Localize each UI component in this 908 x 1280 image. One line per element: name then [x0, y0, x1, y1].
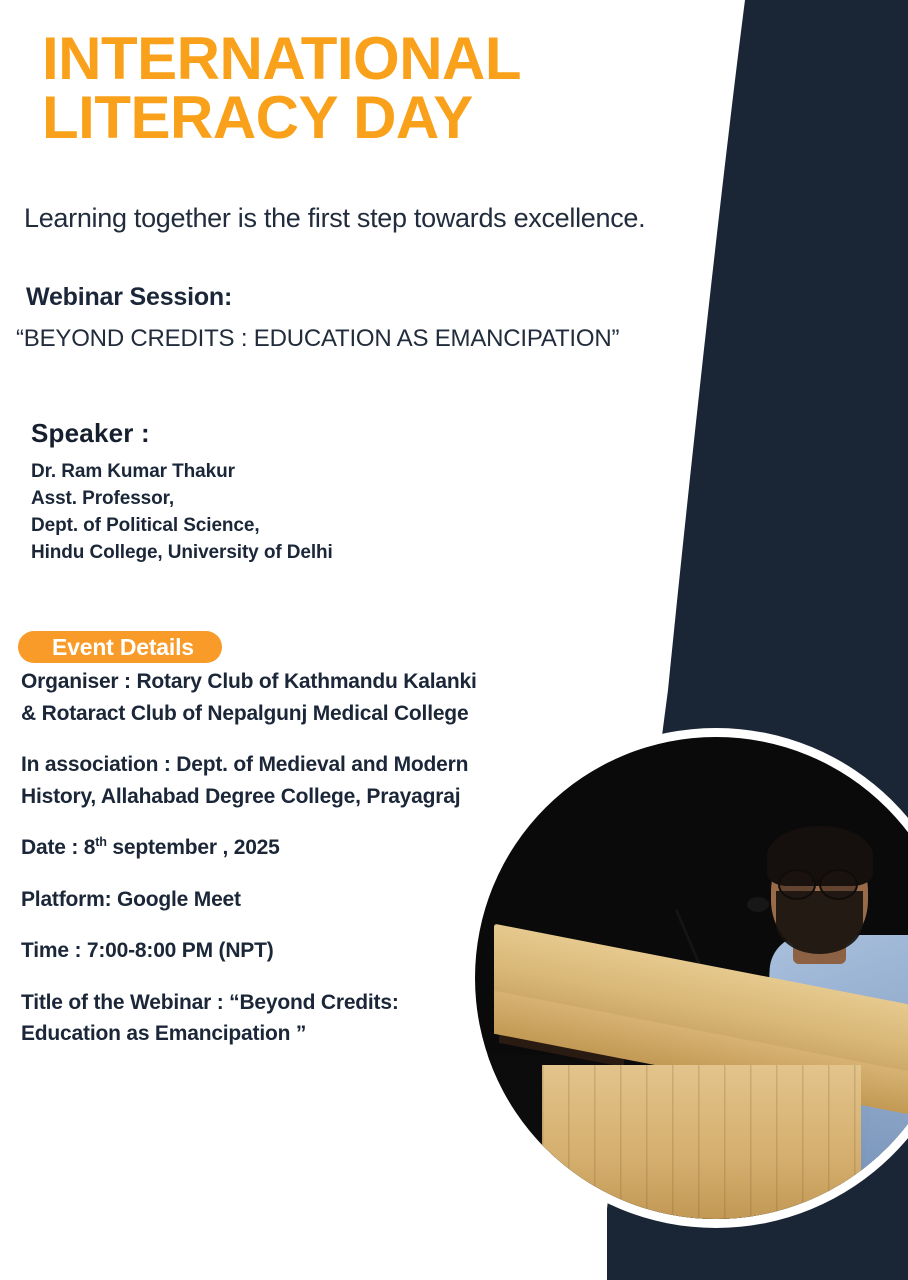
tagline: Learning together is the first step towa… [24, 203, 645, 234]
speaker-details: Dr. Ram Kumar Thakur Asst. Professor, De… [31, 459, 333, 567]
detail-association: In association : Dept. of Medieval and M… [21, 749, 481, 812]
headline-line-2: LITERACY DAY [42, 89, 682, 148]
photo-speaker-beard [776, 891, 863, 954]
detail-organiser: Organiser : Rotary Club of Kathmandu Kal… [21, 666, 481, 729]
speaker-block: Speaker : Dr. Ram Kumar Thakur Asst. Pro… [31, 418, 333, 567]
detail-platform: Platform: Google Meet [21, 884, 481, 916]
speaker-label: Speaker : [31, 418, 333, 449]
speaker-photo [466, 728, 908, 1228]
page-title: INTERNATIONAL LITERACY DAY [42, 30, 682, 148]
detail-date: Date : 8th september , 2025 [21, 832, 481, 864]
detail-time: Time : 7:00-8:00 PM (NPT) [21, 935, 481, 967]
detail-date-label: Date : 8 [21, 836, 95, 859]
detail-webinar-title-line-2: Education as Emancipation ” [21, 1022, 306, 1045]
speaker-name: Dr. Ram Kumar Thakur [31, 459, 333, 486]
photo-microphone-head [747, 897, 769, 912]
speaker-photo-ring [466, 728, 908, 1228]
speaker-designation: Asst. Professor, [31, 486, 333, 513]
detail-date-rest: september , 2025 [107, 836, 280, 859]
photo-eyeglass-bridge [812, 880, 820, 882]
poster-canvas: INTERNATIONAL LITERACY DAY Learning toge… [0, 0, 908, 1280]
event-details-list: Organiser : Rotary Club of Kathmandu Kal… [21, 666, 481, 1070]
speaker-photo-image [475, 737, 908, 1219]
webinar-session-title: “BEYOND CREDITS : EDUCATION AS EMANCIPAT… [16, 325, 619, 353]
headline-line-1: INTERNATIONAL [42, 25, 521, 92]
photo-eyeglass-right [819, 869, 858, 900]
detail-webinar-title: Title of the Webinar : “Beyond Credits: … [21, 987, 481, 1050]
photo-podium-grain [542, 1065, 860, 1219]
detail-webinar-title-line-1: Title of the Webinar : “Beyond Credits: [21, 991, 399, 1014]
detail-date-ordinal: th [95, 835, 107, 849]
speaker-institution: Hindu College, University of Delhi [31, 540, 333, 567]
event-details-badge: Event Details [18, 631, 222, 663]
webinar-session-block: Webinar Session: “BEYOND CREDITS : EDUCA… [26, 283, 619, 353]
webinar-session-label: Webinar Session: [26, 283, 619, 312]
speaker-department: Dept. of Political Science, [31, 513, 333, 540]
photo-eyeglass-left [778, 869, 817, 900]
